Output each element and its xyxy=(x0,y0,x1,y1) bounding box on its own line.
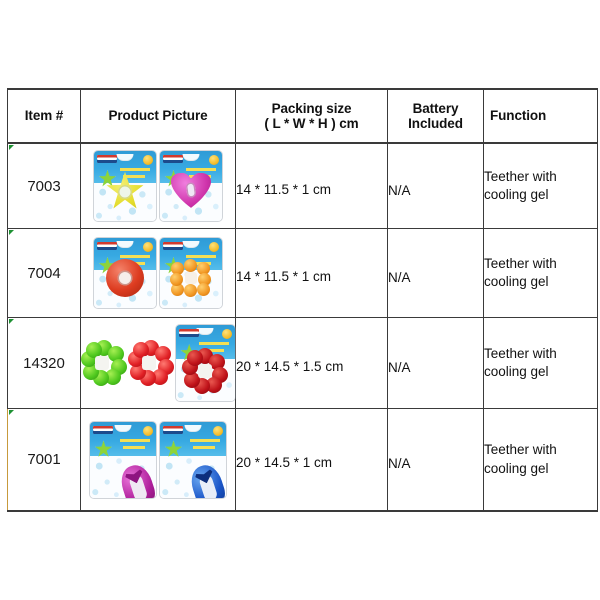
toy-center-hole xyxy=(118,270,133,285)
battery-included-value: N/A xyxy=(388,270,483,285)
cell-function: Teether with cooling gel xyxy=(484,318,598,409)
badge-icon xyxy=(143,155,153,165)
brand-logo-icon xyxy=(93,426,113,434)
badge-icon xyxy=(213,426,223,436)
cell-item-number: 7003 xyxy=(8,143,81,229)
green-corner-marker-icon xyxy=(9,410,14,415)
toy-center-hole xyxy=(185,272,197,284)
function-line-1: Teether with xyxy=(484,345,597,363)
table-header-row: Item # Product Picture Packing size ( L … xyxy=(8,89,598,143)
item-number-value: 14320 xyxy=(23,355,65,372)
cell-battery-included: N/A xyxy=(388,318,484,409)
cell-item-number: 7004 xyxy=(8,229,81,318)
cell-packing-size: 14 * 11.5 * 1 cm xyxy=(236,229,388,318)
packing-size-value: 20 * 14.5 * 1 cm xyxy=(236,455,387,471)
toy-center-hole xyxy=(142,356,156,370)
battery-included-value: N/A xyxy=(388,183,483,198)
cell-battery-included: N/A xyxy=(388,409,484,512)
toy-bump xyxy=(184,284,197,297)
packing-size-value: 14 * 11.5 * 1 cm xyxy=(236,182,387,198)
function-line-2: cooling gel xyxy=(484,186,597,204)
function-line-2: cooling gel xyxy=(484,460,597,478)
column-header-size: Packing size ( L * W * H ) cm xyxy=(236,89,388,143)
product-package-star-yellow xyxy=(94,151,156,221)
item-number-value: 7004 xyxy=(27,265,60,282)
product-spec-table: Item # Product Picture Packing size ( L … xyxy=(7,88,598,512)
cell-item-number: 7001 xyxy=(8,409,81,512)
product-package-shoe-blue xyxy=(160,422,226,498)
column-header-size-label: Packing size xyxy=(272,101,352,116)
column-header-battery-label: Battery xyxy=(413,101,459,116)
brand-logo-icon xyxy=(163,426,183,434)
teether-toy-ring xyxy=(106,259,144,297)
column-header-size-sublabel: ( L * W * H ) cm xyxy=(236,116,387,131)
product-package-ring-red xyxy=(94,238,156,308)
green-corner-marker-icon xyxy=(9,145,14,150)
cell-function: Teether with cooling gel xyxy=(484,409,598,512)
package-caption-text xyxy=(190,438,223,451)
packing-size-value: 20 * 14.5 * 1.5 cm xyxy=(236,359,387,375)
badge-icon xyxy=(143,426,153,436)
toy-center-hole xyxy=(118,185,132,199)
brand-logo-icon xyxy=(97,242,117,250)
cell-battery-included: N/A xyxy=(388,143,484,229)
battery-included-value: N/A xyxy=(388,456,483,471)
function-line-2: cooling gel xyxy=(484,273,597,291)
teether-toy-bumpy-ring xyxy=(171,259,211,297)
brand-logo-icon xyxy=(163,242,183,250)
column-header-function-label: Function xyxy=(490,108,546,123)
teether-toy-flower-green xyxy=(81,340,122,386)
brand-logo-icon xyxy=(97,155,117,163)
product-package-bumpy-orange xyxy=(160,238,222,308)
column-header-picture: Product Picture xyxy=(81,89,236,143)
badge-icon xyxy=(209,155,219,165)
column-header-picture-label: Product Picture xyxy=(108,108,207,123)
cell-function: Teether with cooling gel xyxy=(484,143,598,229)
column-header-function: Function xyxy=(484,89,598,143)
table-row: 7001 xyxy=(8,409,598,512)
cell-product-picture xyxy=(81,409,236,512)
product-spec-sheet: Item # Product Picture Packing size ( L … xyxy=(0,0,600,600)
item-number-value: 7003 xyxy=(27,178,60,195)
column-header-battery-sublabel: Included xyxy=(388,116,483,131)
green-corner-marker-icon xyxy=(9,230,14,235)
function-line-1: Teether with xyxy=(484,255,597,273)
teether-toy-heart xyxy=(171,173,211,209)
product-package-flower-red xyxy=(176,325,235,401)
cell-battery-included: N/A xyxy=(388,229,484,318)
product-package-heart-pink xyxy=(160,151,222,221)
table-row: 7003 xyxy=(8,143,598,229)
teether-toy-star xyxy=(105,171,145,211)
function-line-1: Teether with xyxy=(484,441,597,459)
badge-icon xyxy=(143,242,153,252)
cell-product-picture xyxy=(81,318,236,409)
column-header-item-label: Item # xyxy=(25,108,63,123)
toy-center-hole xyxy=(186,182,197,198)
package-caption-text xyxy=(120,438,153,451)
brand-logo-icon xyxy=(179,329,199,337)
packing-size-value: 14 * 11.5 * 1 cm xyxy=(236,269,387,285)
cell-product-picture xyxy=(81,229,236,318)
product-package-shoe-purple xyxy=(90,422,156,498)
cell-item-number: 14320 xyxy=(8,318,81,409)
table-row: 7004 xyxy=(8,229,598,318)
badge-icon xyxy=(209,242,219,252)
cell-function: Teether with cooling gel xyxy=(484,229,598,318)
cell-packing-size: 20 * 14.5 * 1 cm xyxy=(236,409,388,512)
teether-toy-flower-packaged xyxy=(182,348,228,394)
brand-logo-icon xyxy=(163,155,183,163)
cell-product-picture xyxy=(81,143,236,229)
table-row: 14320 xyxy=(8,318,598,409)
column-header-battery: Battery Included xyxy=(388,89,484,143)
column-header-item: Item # xyxy=(8,89,81,143)
cell-packing-size: 20 * 14.5 * 1.5 cm xyxy=(236,318,388,409)
cell-packing-size: 14 * 11.5 * 1 cm xyxy=(236,143,388,229)
toy-bump xyxy=(184,259,197,272)
teether-toy-flower-red xyxy=(128,340,169,386)
function-line-2: cooling gel xyxy=(484,363,597,381)
toy-bump xyxy=(197,283,210,296)
toy-bump xyxy=(170,273,183,286)
green-corner-marker-icon xyxy=(9,319,14,324)
item-number-value: 7001 xyxy=(27,451,60,468)
battery-included-value: N/A xyxy=(388,360,483,375)
function-line-1: Teether with xyxy=(484,168,597,186)
badge-icon xyxy=(222,329,232,339)
toy-center-hole xyxy=(95,356,109,370)
toy-center-hole xyxy=(198,364,212,378)
